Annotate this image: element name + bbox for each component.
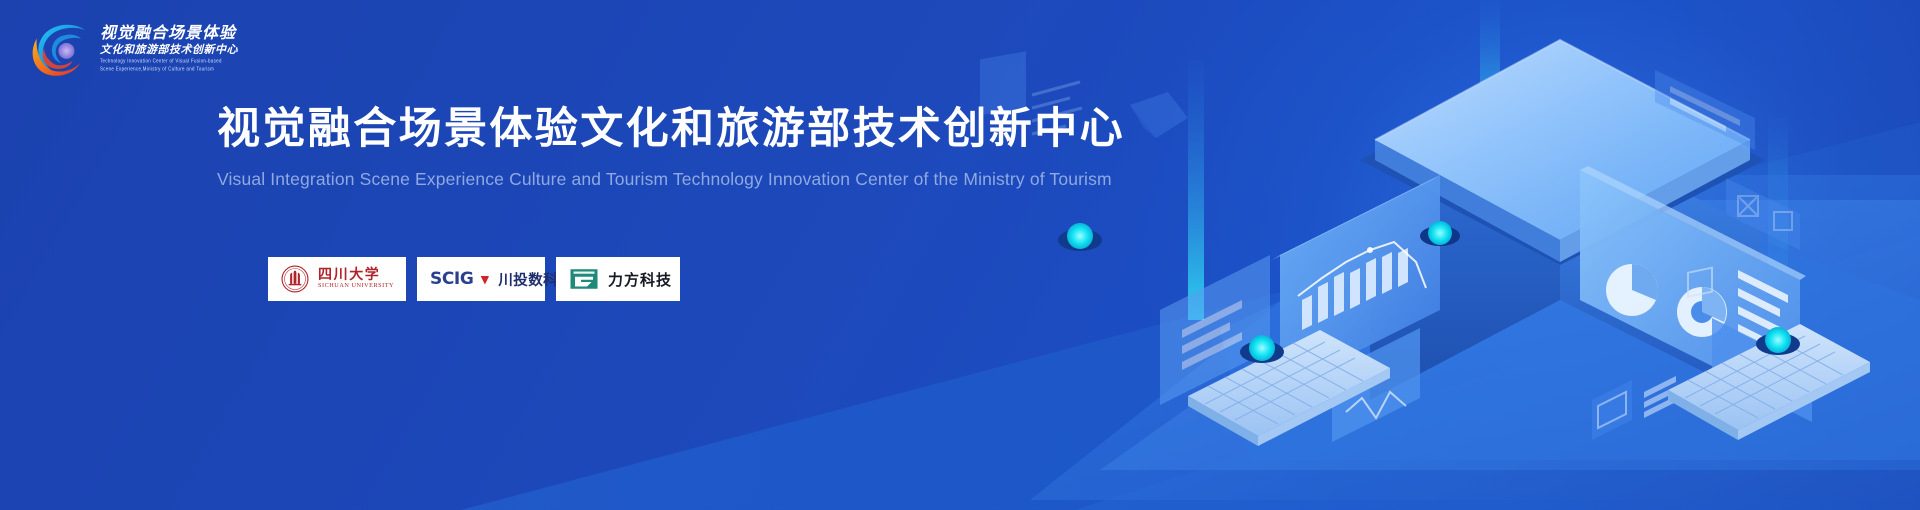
swirl-logo-mark <box>28 20 90 78</box>
partner-logo-row: 四川大学 SICHUAN UNIVERSITY SCIG 川投数科 力方科技 <box>268 257 680 301</box>
scig-logo-icon: SCIG <box>430 269 489 289</box>
logo-cn-sub: 文化和旅游部技术创新中心 <box>100 44 238 56</box>
logo-en-line-2: Scene Experience,Ministry of Culture and… <box>100 66 238 73</box>
page-subtitle: Visual Integration Scene Experience Cult… <box>217 169 1117 190</box>
hero-banner: 视觉融合场景体验 文化和旅游部技术创新中心 Technology Innovat… <box>0 0 1920 510</box>
lifang-cube-icon <box>569 267 599 291</box>
partner-text-sichuan: 四川大学 SICHUAN UNIVERSITY <box>318 268 394 289</box>
logo-lockup[interactable]: 视觉融合场景体验 文化和旅游部技术创新中心 Technology Innovat… <box>28 20 238 78</box>
logo-en-line-1: Technology Innovation Center of Visual F… <box>100 58 238 65</box>
page-title: 视觉融合场景体验文化和旅游部技术创新中心 <box>217 104 1117 155</box>
partner-name-cn: 川投数科 <box>498 269 558 290</box>
logo-cn-main: 视觉融合场景体验 <box>100 25 238 42</box>
headline-block: 视觉融合场景体验文化和旅游部技术创新中心 Visual Integration … <box>217 104 1117 190</box>
partner-badge-lifang[interactable]: 力方科技 <box>556 257 680 301</box>
partner-badge-scig[interactable]: SCIG 川投数科 <box>417 257 545 301</box>
logo-wordmark: 视觉融合场景体验 文化和旅游部技术创新中心 Technology Innovat… <box>100 25 238 72</box>
partner-name-en: SICHUAN UNIVERSITY <box>318 283 394 289</box>
university-seal-icon <box>281 265 309 293</box>
partner-name-cn: 力方科技 <box>608 269 672 290</box>
partner-name-cn: 四川大学 <box>318 268 394 282</box>
partner-name-latin: SCIG <box>430 269 473 289</box>
scig-accent-mark <box>480 276 489 285</box>
partner-badge-sichuan-university[interactable]: 四川大学 SICHUAN UNIVERSITY <box>268 257 406 301</box>
